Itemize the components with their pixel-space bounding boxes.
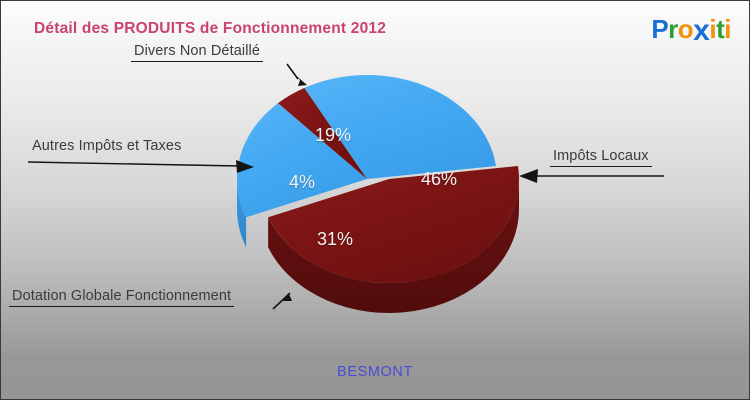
callout-dotation-globale-fonctionnement: Dotation Globale Fonctionnement: [9, 288, 234, 307]
callout-divers-non-detaille: Divers Non Détaillé: [131, 43, 263, 62]
page-title: Détail des PRODUITS de Fonctionnement 20…: [34, 20, 386, 38]
chart-subtitle: BESMONT: [1, 364, 749, 380]
callout-divers-rule: [131, 61, 263, 62]
callout-autres-impots-et-taxes: Autres Impôts et Taxes: [29, 138, 184, 156]
logo-letter-t: t: [716, 16, 724, 42]
logo-letter-x: x: [693, 16, 709, 46]
logo-letter-i2: i: [724, 16, 731, 42]
callout-dotation-rule: [9, 306, 234, 307]
chart-canvas: 46% 19% 4% 31% Divers Non Détaillé Autre…: [0, 0, 750, 400]
callout-impots-rule: [550, 166, 652, 167]
slice-value-autres: 4%: [289, 172, 315, 193]
logo-letter-i1: i: [709, 16, 716, 42]
callout-impots-label: Impôts Locaux: [550, 148, 652, 166]
callout-impots-locaux: Impôts Locaux: [550, 148, 652, 167]
logo-letter-o: o: [678, 16, 693, 42]
slice-value-dotation: 31%: [317, 229, 353, 250]
slice-value-divers: 19%: [315, 125, 351, 146]
proxiti-logo[interactable]: Proxiti: [651, 14, 731, 44]
slice-value-impots: 46%: [421, 169, 457, 190]
callout-dotation-label: Dotation Globale Fonctionnement: [9, 288, 234, 306]
logo-letter-p: P: [651, 16, 668, 42]
logo-letter-r: r: [668, 16, 678, 42]
callout-autres-label: Autres Impôts et Taxes: [29, 138, 184, 156]
pie-chart: [1, 1, 750, 400]
callout-divers-label: Divers Non Détaillé: [131, 43, 263, 61]
